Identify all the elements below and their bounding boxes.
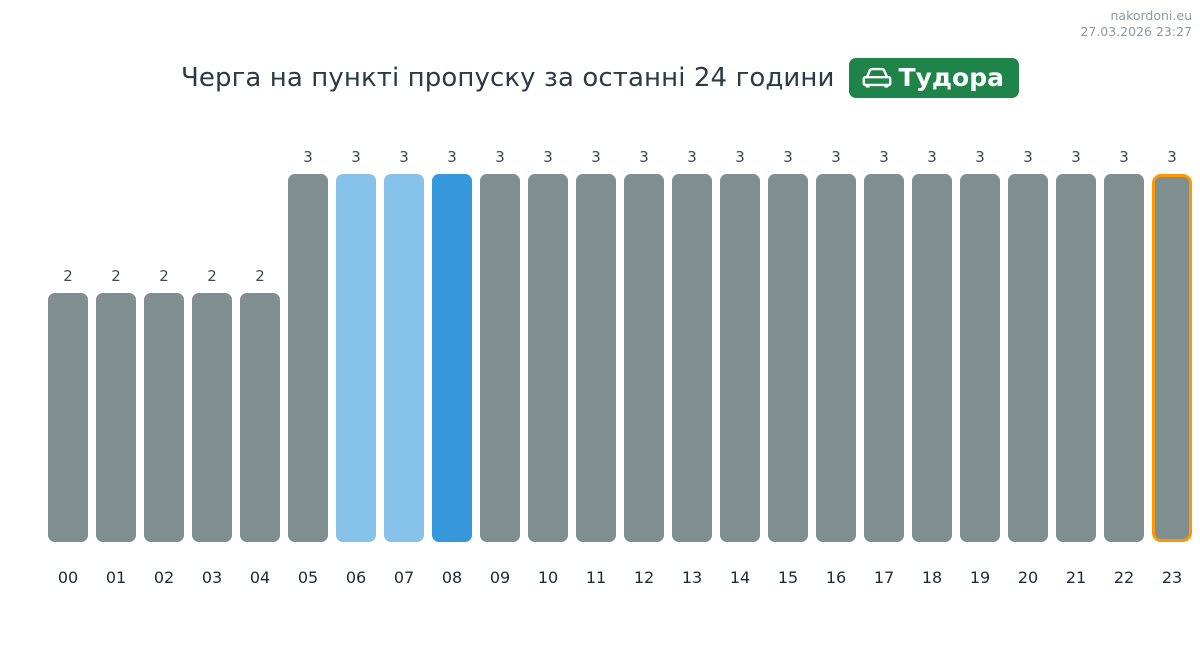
x-axis-label-15: 15	[768, 570, 808, 586]
bar-15[interactable]	[768, 174, 808, 542]
x-axis-label-09: 09	[480, 570, 520, 586]
bar-value-label: 3	[816, 150, 856, 165]
x-axis-label-01: 01	[96, 570, 136, 586]
bar-slot-15: 3	[768, 130, 808, 542]
bar-value-label: 3	[1008, 150, 1048, 165]
bar-slot-20: 3	[1008, 130, 1048, 542]
bar-value-label: 2	[240, 269, 280, 284]
bar-value-label: 3	[528, 150, 568, 165]
bar-value-label: 3	[720, 150, 760, 165]
chart-header: Черга на пункті пропуску за останні 24 г…	[0, 58, 1200, 98]
bar-10[interactable]	[528, 174, 568, 542]
x-axis-label-20: 20	[1008, 570, 1048, 586]
bar-slot-00: 2	[48, 130, 88, 542]
x-axis-label-03: 03	[192, 570, 232, 586]
x-axis-label-16: 16	[816, 570, 856, 586]
bar-value-label: 3	[384, 150, 424, 165]
bar-slot-23: 3	[1152, 130, 1192, 542]
bar-value-label: 3	[1104, 150, 1144, 165]
bar-19[interactable]	[960, 174, 1000, 542]
bar-slot-22: 3	[1104, 130, 1144, 542]
bar-value-label: 3	[336, 150, 376, 165]
checkpoint-badge-label: Тудора	[899, 65, 1004, 90]
bar-slot-01: 2	[96, 130, 136, 542]
car-icon	[862, 67, 892, 89]
checkpoint-badge[interactable]: Тудора	[849, 58, 1019, 98]
x-axis-label-22: 22	[1104, 570, 1144, 586]
queue-bar-chart: 222223333333333333333333 000102030405060…	[0, 130, 1200, 600]
bar-21[interactable]	[1056, 174, 1096, 542]
bar-value-label: 3	[672, 150, 712, 165]
bar-value-label: 3	[288, 150, 328, 165]
watermark-timestamp: 27.03.2026 23:27	[1080, 24, 1192, 40]
x-axis-label-02: 02	[144, 570, 184, 586]
x-axis-label-19: 19	[960, 570, 1000, 586]
bar-00[interactable]	[48, 293, 88, 542]
bar-slot-18: 3	[912, 130, 952, 542]
bar-slot-14: 3	[720, 130, 760, 542]
bar-12[interactable]	[624, 174, 664, 542]
bar-slot-19: 3	[960, 130, 1000, 542]
bar-value-label: 2	[144, 269, 184, 284]
bar-slot-04: 2	[240, 130, 280, 542]
chart-plot-area: 222223333333333333333333	[48, 130, 1152, 542]
bar-slot-03: 2	[192, 130, 232, 542]
bar-09[interactable]	[480, 174, 520, 542]
watermark-site: nakordoni.eu	[1080, 8, 1192, 24]
x-axis-label-13: 13	[672, 570, 712, 586]
bar-03[interactable]	[192, 293, 232, 542]
bar-18[interactable]	[912, 174, 952, 542]
bar-14[interactable]	[720, 174, 760, 542]
chart-x-axis: 0001020304050607080910111213141516171819…	[48, 570, 1152, 600]
bar-01[interactable]	[96, 293, 136, 542]
bar-value-label: 3	[576, 150, 616, 165]
bar-value-label: 2	[48, 269, 88, 284]
x-axis-label-07: 07	[384, 570, 424, 586]
x-axis-label-18: 18	[912, 570, 952, 586]
bar-slot-02: 2	[144, 130, 184, 542]
bar-slot-21: 3	[1056, 130, 1096, 542]
bar-13[interactable]	[672, 174, 712, 542]
bar-slot-05: 3	[288, 130, 328, 542]
bar-value-label: 3	[864, 150, 904, 165]
x-axis-label-17: 17	[864, 570, 904, 586]
bar-value-label: 3	[432, 150, 472, 165]
bar-slot-13: 3	[672, 130, 712, 542]
bar-value-label: 3	[480, 150, 520, 165]
bar-slot-08: 3	[432, 130, 472, 542]
bar-value-label: 2	[192, 269, 232, 284]
bar-slot-10: 3	[528, 130, 568, 542]
bar-slot-16: 3	[816, 130, 856, 542]
bar-value-label: 3	[768, 150, 808, 165]
bar-slot-17: 3	[864, 130, 904, 542]
bar-08[interactable]	[432, 174, 472, 542]
page-title: Черга на пункті пропуску за останні 24 г…	[181, 63, 835, 93]
bar-02[interactable]	[144, 293, 184, 542]
bar-slot-07: 3	[384, 130, 424, 542]
x-axis-label-12: 12	[624, 570, 664, 586]
bar-value-label: 3	[1056, 150, 1096, 165]
bar-05[interactable]	[288, 174, 328, 542]
bar-23[interactable]	[1152, 174, 1192, 542]
bar-04[interactable]	[240, 293, 280, 542]
bar-20[interactable]	[1008, 174, 1048, 542]
bar-value-label: 3	[624, 150, 664, 165]
x-axis-label-06: 06	[336, 570, 376, 586]
bar-slot-12: 3	[624, 130, 664, 542]
x-axis-label-05: 05	[288, 570, 328, 586]
x-axis-label-11: 11	[576, 570, 616, 586]
x-axis-label-14: 14	[720, 570, 760, 586]
bar-slot-09: 3	[480, 130, 520, 542]
bar-16[interactable]	[816, 174, 856, 542]
bar-07[interactable]	[384, 174, 424, 542]
x-axis-label-04: 04	[240, 570, 280, 586]
bar-value-label: 3	[1152, 150, 1192, 165]
x-axis-label-00: 00	[48, 570, 88, 586]
bar-22[interactable]	[1104, 174, 1144, 542]
bar-value-label: 3	[960, 150, 1000, 165]
bar-slot-06: 3	[336, 130, 376, 542]
watermark: nakordoni.eu 27.03.2026 23:27	[1080, 8, 1192, 39]
x-axis-label-10: 10	[528, 570, 568, 586]
bar-06[interactable]	[336, 174, 376, 542]
x-axis-label-21: 21	[1056, 570, 1096, 586]
bar-value-label: 2	[96, 269, 136, 284]
bar-11[interactable]	[576, 174, 616, 542]
x-axis-label-08: 08	[432, 570, 472, 586]
x-axis-label-23: 23	[1152, 570, 1192, 586]
bar-value-label: 3	[912, 150, 952, 165]
bar-slot-11: 3	[576, 130, 616, 542]
bar-17[interactable]	[864, 174, 904, 542]
